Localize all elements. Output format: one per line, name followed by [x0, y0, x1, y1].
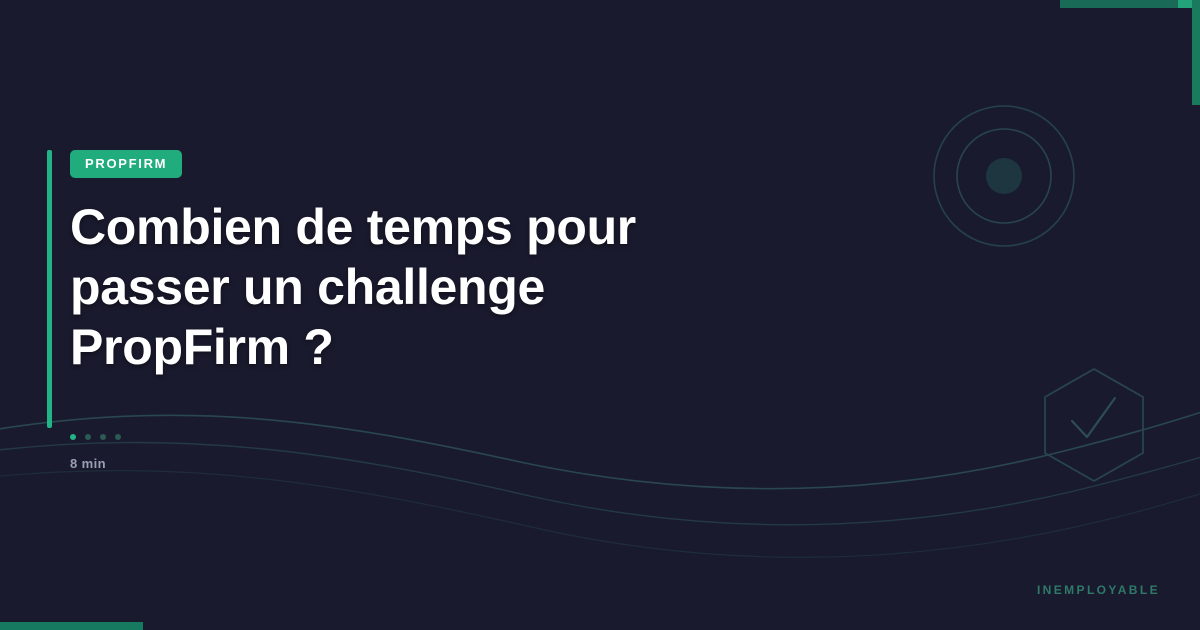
circle-outer-ring	[934, 106, 1074, 246]
progress-dot-3	[100, 434, 106, 440]
wave-line-2	[0, 443, 1200, 525]
concentric-circles-decoration	[934, 106, 1074, 246]
corner-accent-top-bar	[1060, 0, 1178, 8]
progress-dot-2	[85, 434, 91, 440]
check-icon	[1072, 398, 1115, 437]
progress-dot-4	[115, 434, 121, 440]
hexagon-outline	[1045, 369, 1143, 481]
hero-card: PROPFIRM Combien de temps pour passer un…	[0, 0, 1200, 630]
read-time-label: 8 min	[70, 456, 121, 471]
progress-dots	[70, 434, 121, 440]
accent-bar-vertical	[47, 150, 52, 428]
progress-dot-1	[70, 434, 76, 440]
wave-line-1	[0, 406, 1200, 489]
hero-text-block: PROPFIRM Combien de temps pour passer un…	[47, 150, 807, 377]
page-title: Combien de temps pour passer un challeng…	[70, 197, 670, 377]
hero-content: PROPFIRM Combien de temps pour passer un…	[47, 150, 807, 377]
corner-accent-right-strip	[1192, 0, 1200, 105]
wave-lines	[0, 406, 1200, 557]
circle-middle-ring	[957, 129, 1051, 223]
brand-wordmark: INEMPLOYABLE	[1037, 583, 1160, 597]
hero-meta: 8 min	[70, 434, 121, 471]
category-badge[interactable]: PROPFIRM	[70, 150, 182, 178]
wave-line-3	[0, 471, 1200, 558]
circle-core-dot	[986, 158, 1022, 194]
corner-accent-bottom-bar	[0, 622, 143, 630]
hexagon-check-decoration	[1045, 369, 1143, 481]
